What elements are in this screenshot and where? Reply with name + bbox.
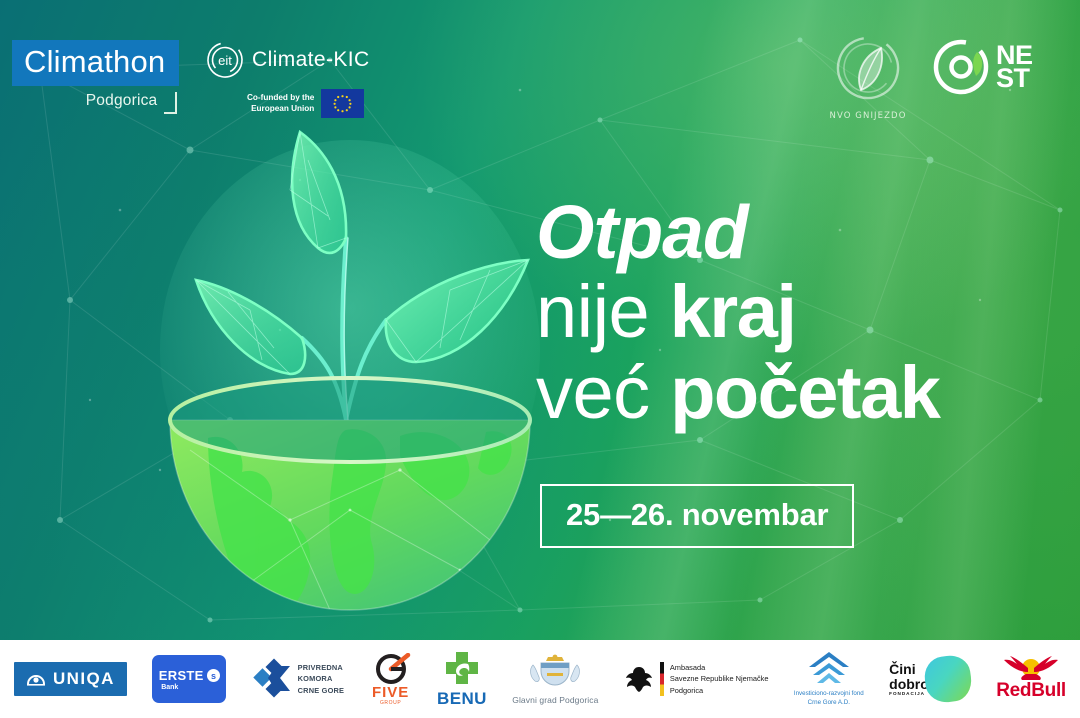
sponsor-privredna-komora[interactable]: PRIVREDNA KOMORA CRNE GORE <box>252 658 345 700</box>
eu-flag-icon <box>321 89 364 118</box>
leaf-in-circle-icon <box>825 32 911 104</box>
sponsor-strip: UNIQA ERSTE s Bank <box>0 640 1080 718</box>
one-nest-logo[interactable]: NE ST <box>930 36 1033 98</box>
headline-block: Otpad nije kraj već početak <box>536 196 1056 428</box>
event-date-badge: 25—26. novembar <box>540 484 854 548</box>
red-bull-bulls-icon <box>1000 656 1062 680</box>
sponsor-irf[interactable]: Investiciono-razvojni fond Crne Gore A.D… <box>794 650 864 708</box>
pkcg-line-2: KOMORA <box>298 673 345 684</box>
five-wordmark: FIVE <box>372 685 409 700</box>
headline-line-2: nije kraj <box>536 276 1056 347</box>
globe-hemisphere-icon <box>170 378 530 613</box>
five-g-icon <box>370 653 412 685</box>
benu-wordmark: BENU <box>437 689 487 709</box>
cini-line-2: dobro <box>889 677 929 692</box>
nest-line-2: ST <box>996 67 1033 90</box>
erste-s-circle-icon: s <box>207 669 220 682</box>
amb-line-2: Savezne Republike Njemačke <box>670 673 769 684</box>
red-bull-word-2: Bull <box>1031 680 1066 701</box>
cini-sub: FONDACIJA <box>889 691 929 696</box>
eu-cofunding-badge: Co-funded by the European Union <box>247 89 395 118</box>
irf-line-2: Crne Gore A.D. <box>794 699 864 708</box>
headline-line-3-thin: već <box>536 351 650 434</box>
climathon-city-wrap: Podgorica <box>12 86 179 110</box>
german-eagle-icon <box>624 664 654 694</box>
sponsor-ambasada-njemacke[interactable]: Ambasada Savezne Republike Njemačke Podg… <box>624 662 769 696</box>
privredna-komora-diamond-icon <box>252 658 292 700</box>
five-sub: GROUP <box>380 700 401 706</box>
erste-wordmark: ERSTE <box>159 668 204 683</box>
irf-text: Investiciono-razvojni fond Crne Gore A.D… <box>794 690 864 708</box>
headline-line-1: Otpad <box>536 196 1056 268</box>
climate-kic-logo[interactable]: eit Climate-KIC Co-funded by the Europea… <box>205 40 395 118</box>
headline-line-2-bold: kraj <box>670 270 796 353</box>
pkcg-line-1: PRIVREDNA <box>298 662 345 673</box>
pkcg-line-3: CRNE GORE <box>298 685 345 696</box>
nvo-gnijezdo-logo[interactable]: NVO GNIJEZDO <box>820 32 916 121</box>
headline-line-3-bold: početak <box>670 351 939 434</box>
climathon-logo[interactable]: Climathon Podgorica <box>12 40 179 110</box>
uniqa-arch-icon <box>26 671 46 687</box>
podgorica-coat-of-arms-icon <box>527 653 583 693</box>
eu-line-2: European Union <box>247 104 314 114</box>
sponsor-five[interactable]: FIVE GROUP <box>370 653 412 706</box>
sponsor-erste[interactable]: ERSTE s Bank <box>152 655 226 703</box>
erste-sub: Bank <box>161 684 178 691</box>
nest-wordmark: NE ST <box>996 44 1033 90</box>
irf-line-1: Investiciono-razvojni fond <box>794 690 864 699</box>
climate-kic-word: Climate-KIC <box>252 48 370 72</box>
climathon-city: Podgorica <box>86 92 158 109</box>
red-bull-word-1: Red <box>996 680 1031 701</box>
cini-line-1: Čini <box>889 662 929 677</box>
irf-chevron-icon <box>807 650 851 688</box>
svg-text:s: s <box>211 671 216 681</box>
benu-cross-icon <box>442 650 482 688</box>
amb-line-3: Podgorica <box>670 685 769 696</box>
uniqa-wordmark: UNIQA <box>53 669 115 689</box>
nest-o-ring-icon <box>930 36 992 98</box>
german-flag-bar-icon <box>660 662 664 696</box>
podgorica-caption: Glavni grad Podgorica <box>512 695 598 705</box>
cini-dobro-blob-icon <box>922 653 974 705</box>
sponsor-cini-dobro[interactable]: Čini dobro FONDACIJA <box>889 656 971 702</box>
eu-line-1: Co-funded by the <box>247 93 314 103</box>
climate-kic-main: eit Climate-KIC <box>205 40 395 80</box>
svg-text:eit: eit <box>218 53 232 68</box>
eu-cofunding-text: Co-funded by the European Union <box>247 93 314 114</box>
headline-line-3: već početak <box>536 357 1056 428</box>
sponsor-uniqa[interactable]: UNIQA <box>14 662 127 696</box>
corner-bracket-icon <box>164 92 177 114</box>
ambasada-text: Ambasada Savezne Republike Njemačke Podg… <box>670 662 769 695</box>
headline-line-2-thin: nije <box>536 270 649 353</box>
event-poster: Climathon Podgorica eit Climate-KIC Co-f… <box>0 0 1080 718</box>
sponsor-benu[interactable]: BENU <box>437 650 487 709</box>
sponsor-glavni-grad-podgorica[interactable]: Glavni grad Podgorica <box>512 653 598 705</box>
privredna-komora-text: PRIVREDNA KOMORA CRNE GORE <box>298 662 345 695</box>
climathon-title: Climathon <box>12 40 179 86</box>
nvo-gnijezdo-label: NVO GNIJEZDO <box>820 111 916 121</box>
partner-logo-row: Climathon Podgorica eit Climate-KIC Co-f… <box>0 0 1080 140</box>
sprout-and-globe-illustration <box>150 120 550 640</box>
eit-circle-icon: eit <box>205 40 245 80</box>
amb-line-1: Ambasada <box>670 662 769 673</box>
sponsor-red-bull[interactable]: RedBull <box>996 656 1066 702</box>
